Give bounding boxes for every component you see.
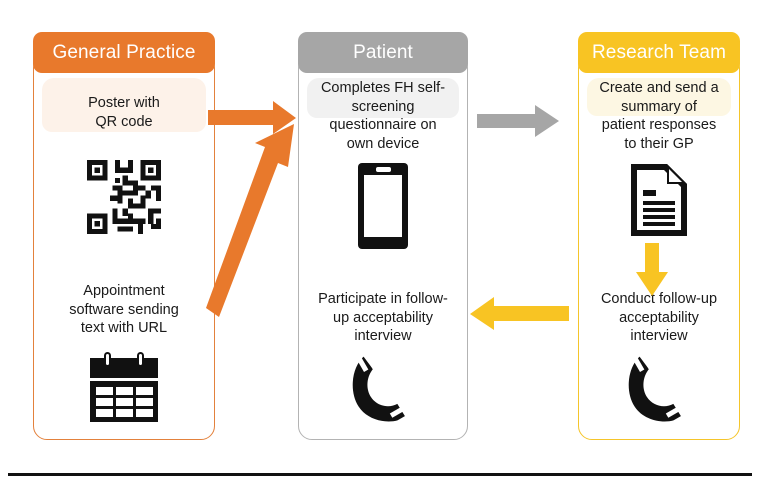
gp-step2-text: Appointment software sending text with U…: [39, 282, 209, 338]
arrow-patient-to-research-team: [477, 105, 559, 137]
arrow-research-team-to-patient: [470, 297, 569, 330]
column-patient: Patient Completes FH self- screening que…: [298, 32, 468, 440]
diagram-canvas: General Practice Poster with QR code: [0, 0, 760, 491]
research-step1-text: Create and send a summary of patient res…: [582, 79, 736, 153]
document-icon: [620, 158, 698, 242]
arrow-gp-poster-to-patient: [208, 101, 296, 134]
column-research-team: Research Team Create and send a summary …: [578, 32, 740, 440]
arrow-gp-appointment-to-patient: [206, 124, 294, 317]
general-practice-header: General Practice: [33, 32, 215, 73]
smartphone-icon: [345, 160, 421, 252]
telephone-handset-icon: [616, 350, 706, 432]
bottom-divider-line: [8, 473, 752, 476]
research-step2-text: Conduct follow-up acceptability intervie…: [580, 290, 738, 346]
calendar-icon: [83, 347, 165, 427]
qr-code-icon: [84, 157, 164, 237]
patient-header: Patient: [298, 32, 468, 73]
research-team-header-label: Research Team: [592, 42, 726, 64]
gp-step1-text: Poster with QR code: [39, 94, 209, 131]
patient-header-label: Patient: [353, 42, 413, 64]
research-team-header: Research Team: [578, 32, 740, 73]
telephone-handset-icon: [340, 350, 430, 432]
patient-step1-text: Completes FH self- screening questionnai…: [304, 79, 462, 153]
general-practice-header-label: General Practice: [52, 42, 195, 64]
column-general-practice: General Practice Poster with QR code: [33, 32, 215, 440]
patient-step2-text: Participate in follow- up acceptability …: [301, 290, 465, 346]
